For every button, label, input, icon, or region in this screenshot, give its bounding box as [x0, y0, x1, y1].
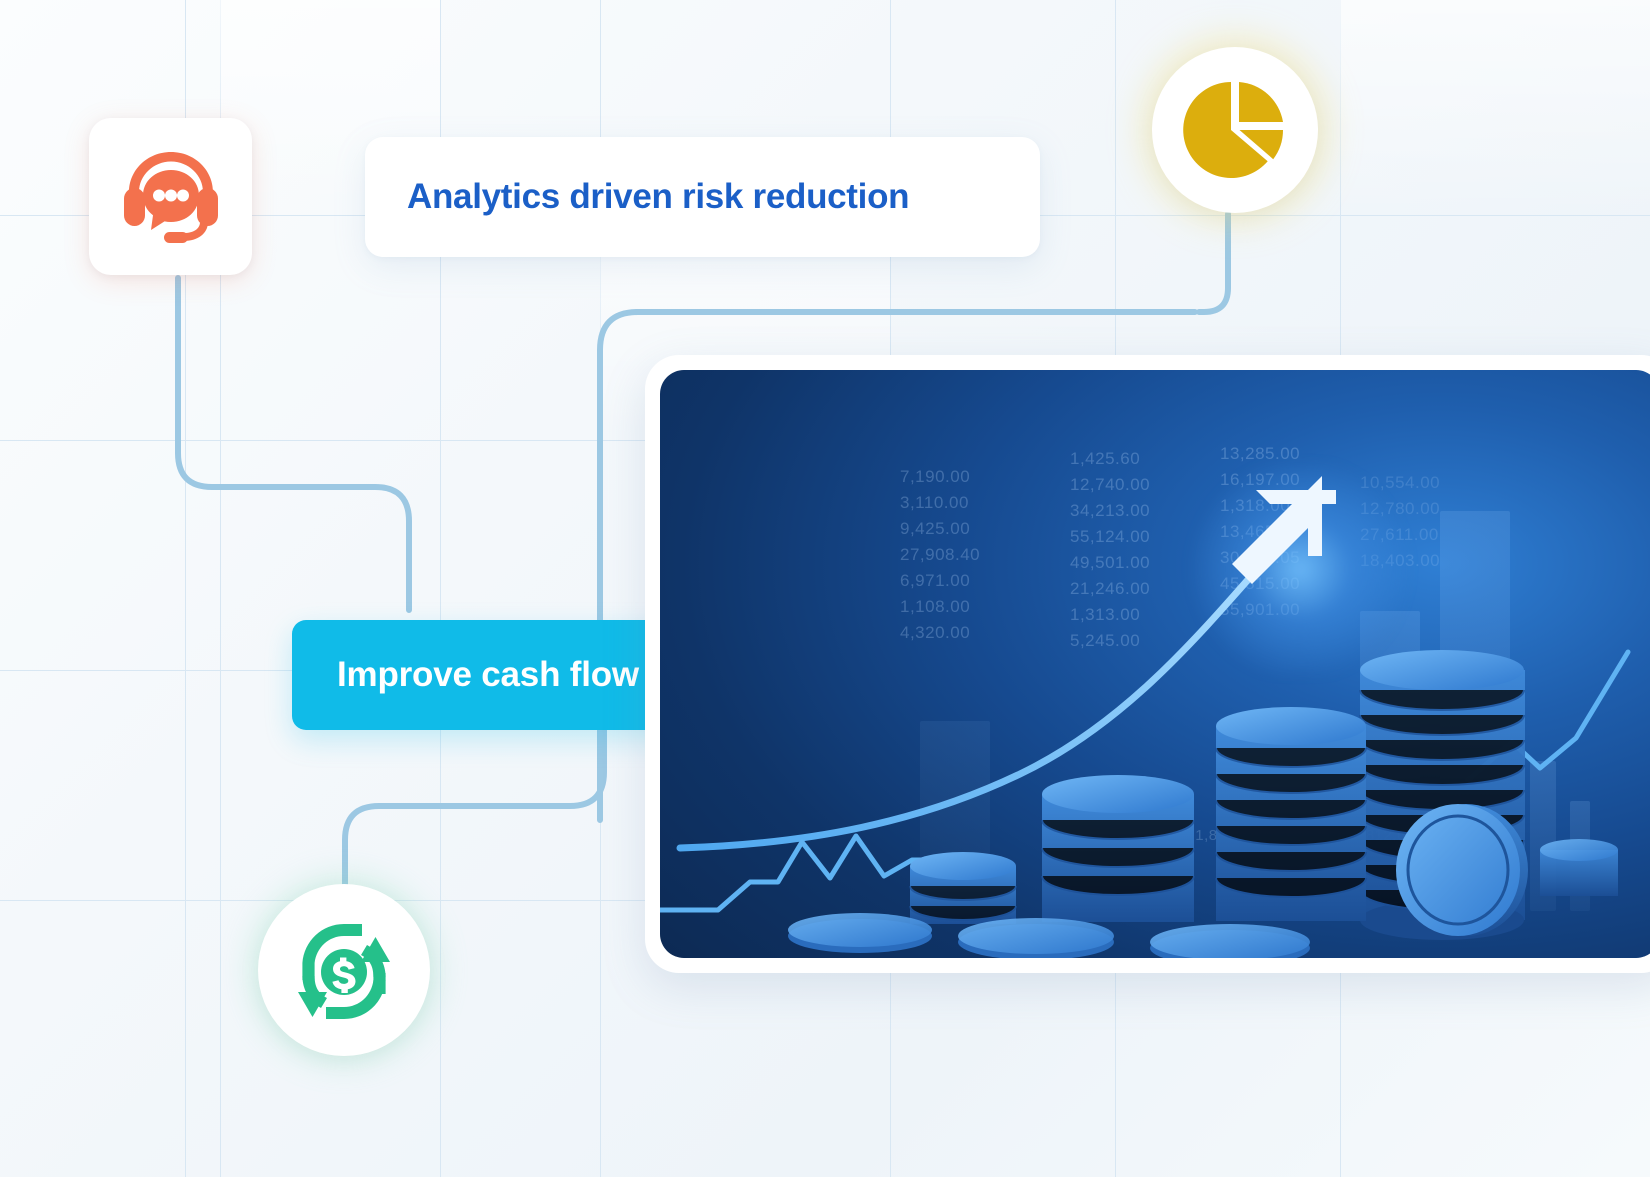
diagram-canvas: Analytics driven risk reduction Improve … — [0, 0, 1650, 1177]
connector-cta-to-cash — [345, 730, 604, 892]
pie-chart-icon — [1183, 78, 1287, 182]
financial-visual-panel[interactable]: 7,190.00 3,110.00 9,425.00 27,908.40 6,9… — [645, 355, 1650, 973]
financial-growth-illustration — [660, 370, 1650, 958]
pie-chart-badge[interactable] — [1152, 47, 1318, 213]
connector-pie-to-panel — [1199, 214, 1228, 312]
chat-headset-icon — [120, 148, 222, 246]
support-chat-badge[interactable] — [89, 118, 252, 275]
cta-label: Improve cash flow — [337, 655, 639, 695]
cash-flow-badge[interactable] — [258, 884, 430, 1056]
cash-flow-cycle-icon — [292, 918, 396, 1022]
headline-label: Analytics driven risk reduction — [407, 177, 909, 217]
panel-alt-text: Financial growth illustration: stacks of… — [0, 0, 1, 1]
headline-card[interactable]: Analytics driven risk reduction — [365, 137, 1040, 257]
financial-visual-inner: 7,190.00 3,110.00 9,425.00 27,908.40 6,9… — [660, 370, 1650, 958]
connector-support-to-cta — [178, 278, 409, 610]
